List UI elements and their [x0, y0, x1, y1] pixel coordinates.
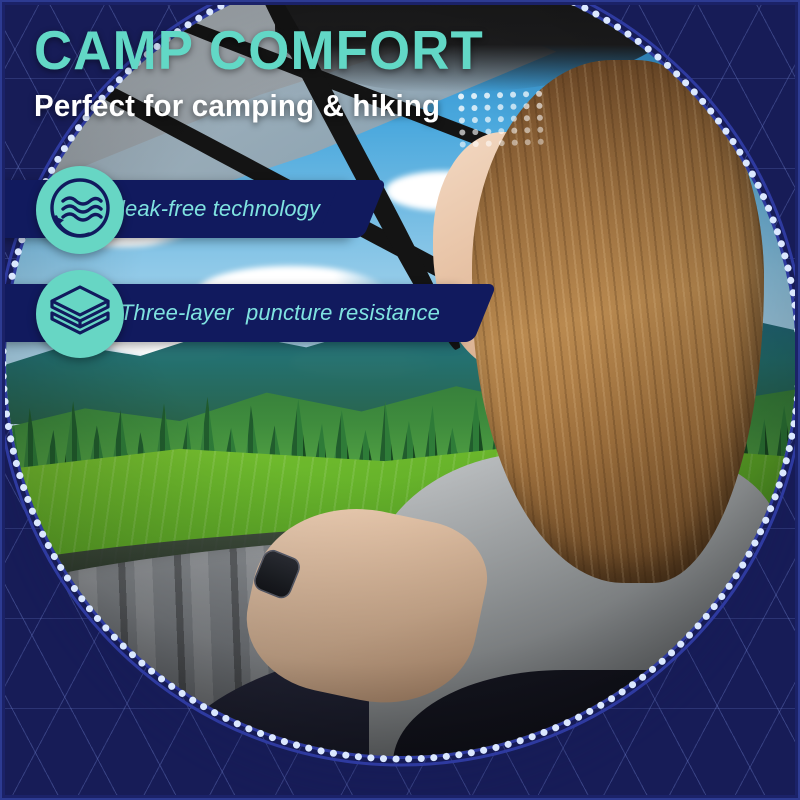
grid-dot — [486, 140, 492, 146]
grid-dot — [459, 129, 465, 135]
grid-dot — [537, 115, 543, 121]
grid-dot — [536, 91, 542, 97]
layers-stack-icon — [36, 270, 124, 358]
grid-dot — [484, 104, 490, 110]
water-waves-icon — [36, 166, 124, 254]
feature-label: Three-layer puncture resistance — [120, 300, 440, 326]
grid-dot — [537, 127, 543, 133]
grid-dot — [523, 91, 529, 97]
grid-dot — [511, 116, 517, 122]
grid-dot — [498, 128, 504, 134]
grid-dot — [472, 117, 478, 123]
grid-dot — [471, 93, 477, 99]
grid-dot — [511, 128, 517, 134]
grid-dot — [524, 127, 530, 133]
grid-dot — [471, 105, 477, 111]
grid-dot — [460, 141, 466, 147]
grid-dot — [459, 117, 465, 123]
grid-dot — [512, 140, 518, 146]
grid-dot — [473, 141, 479, 147]
grid-dot — [525, 139, 531, 145]
page-title: CAMP COMFORT — [34, 22, 610, 78]
product-marketing-image: CAMP COMFORT Perfect for camping & hikin… — [0, 0, 800, 800]
grid-dot — [498, 116, 504, 122]
grid-dot — [485, 116, 491, 122]
dot-grid-decoration — [458, 90, 551, 153]
grid-dot — [499, 140, 505, 146]
grid-dot — [497, 104, 503, 110]
grid-dot — [510, 104, 516, 110]
feature-label: leak-free technology — [120, 196, 320, 222]
grid-dot — [458, 93, 464, 99]
grid-dot — [458, 105, 464, 111]
feature-badge-list: leak-free technology Three-layer punctur… — [0, 166, 560, 358]
grid-dot — [485, 128, 491, 134]
grid-dot — [510, 92, 516, 98]
grid-dot — [484, 92, 490, 98]
feature-leak-free[interactable]: leak-free technology — [0, 166, 560, 254]
grid-dot — [497, 92, 503, 98]
grid-dot — [524, 115, 530, 121]
feature-three-layer[interactable]: Three-layer puncture resistance — [0, 270, 560, 358]
grid-dot — [472, 129, 478, 135]
grid-dot — [523, 103, 529, 109]
grid-dot — [538, 139, 544, 145]
grid-dot — [536, 103, 542, 109]
